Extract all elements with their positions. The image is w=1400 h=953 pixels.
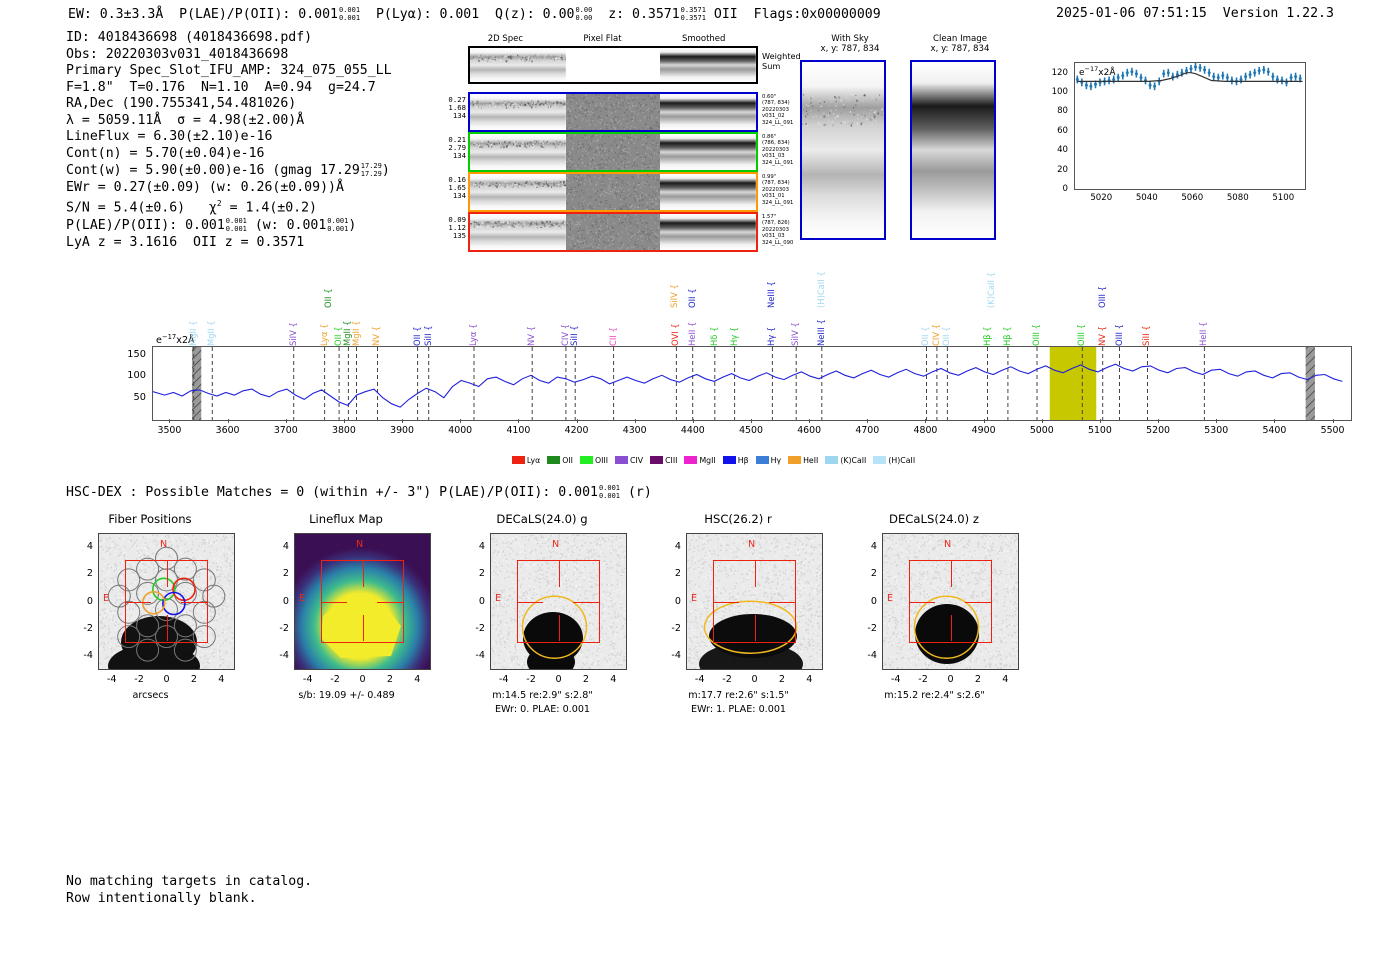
zoom-ytick-0: 0 <box>1038 184 1068 194</box>
image-panel-0-ytick-2: 2 <box>60 568 93 579</box>
image-panel-0-xtick--2: -2 <box>134 674 144 685</box>
image-panel-1-ytick-2: 2 <box>256 568 289 579</box>
sup-sub-pair: 0.35710.3571 <box>681 6 706 22</box>
image-panel-title-0: Fiber Positions <box>60 512 240 526</box>
image-panel-2-ytick-0: 0 <box>452 596 485 607</box>
east-marker-1: E <box>299 593 305 604</box>
image-panel-4-ytick-0: 0 <box>844 596 877 607</box>
spectrum-line-label-SiII-38: SiII { <box>1141 302 1151 346</box>
zoom-xtick-5020: 5020 <box>1090 193 1112 203</box>
image-panel-3-ytick--2: -2 <box>648 623 681 634</box>
image-panel-title-3: HSC(26.2) r <box>648 512 828 526</box>
spectrum-line-label-Lyα-3: Lyα { <box>319 302 329 346</box>
spectrum-xtickmark-4500 <box>751 419 752 423</box>
cutout-row <box>468 132 758 172</box>
image-panel-0-ytick-4: 4 <box>60 541 93 552</box>
crosshair-horizontal-left-4 <box>909 602 935 603</box>
spectrum-xtick-3800: 3800 <box>332 425 356 436</box>
spectrum-ytick-150: 150 <box>120 349 146 360</box>
info-line-6: LineFlux = 6.30(±2.10)e-16 <box>66 129 392 146</box>
spectrum-line-label-CII-15: CII { <box>608 302 618 346</box>
zoom-plot-axes: e−17x2Å <box>1074 62 1306 190</box>
cutout-seg-flat <box>566 214 660 250</box>
header-part-4-after: OII <box>706 7 738 22</box>
image-panel-2-caption2: EWr: 0. PLAE: 0.001 <box>440 704 645 715</box>
sky-panel-coords-0: x, y: 787, 834 <box>800 44 900 54</box>
spectrum-xtick-4900: 4900 <box>972 425 996 436</box>
image-panel-3-ytick--4: -4 <box>648 650 681 661</box>
spectrum-line-label-NeIII-23: NeIII { <box>766 264 776 308</box>
cutout-column-title-2: Smoothed <box>682 34 725 44</box>
image-panel-2-ytick--4: -4 <box>452 650 485 661</box>
spectrum-xtickmark-4400 <box>693 419 694 423</box>
masked-band-1 <box>1306 347 1315 420</box>
spectrum-line-label-CIV-28: CIV { <box>931 302 941 346</box>
cutout-seg-smooth <box>660 48 756 82</box>
spectrum-line-label-MgII-1: MgII { <box>206 302 216 346</box>
zoom-ytick-120: 120 <box>1038 68 1068 78</box>
spectrum-xtick-4300: 4300 <box>623 425 647 436</box>
spectrum-line-label-SiII-14: SiII { <box>569 302 579 346</box>
cutout-left-label-2: 134 <box>440 192 466 200</box>
image-panel-3-xtick--2: -2 <box>722 674 732 685</box>
info-line-snr: S/N = 5.4(±0.6) χ2 = 1.4(±0.2) <box>66 196 392 217</box>
cutout-row <box>468 212 758 252</box>
spectrum-line-label-SiIV-2: SiIV { <box>288 302 298 346</box>
spectrum-xtickmark-5000 <box>1042 419 1043 423</box>
zoom-ytick-80: 80 <box>1038 106 1068 116</box>
spectrum-xtick-3500: 3500 <box>158 425 182 436</box>
spectrum-xtick-4100: 4100 <box>506 425 530 436</box>
crosshair-vertical-top-4 <box>951 561 952 587</box>
image-panel-4-ytick-2: 2 <box>844 568 877 579</box>
spectrum-line-label-Hδ-20: Hδ { <box>709 302 719 346</box>
info-line-5: λ = 5059.11Å σ = 4.98(±2.00)Å <box>66 113 392 130</box>
spectrum-xtick-4500: 4500 <box>739 425 763 436</box>
sup-sub-pair: 0.0010.001 <box>226 217 247 233</box>
spectrum-line-label-MgII-7: MgII { <box>351 302 361 346</box>
spectrum-xtick-4200: 4200 <box>565 425 589 436</box>
image-panel-1-xtick--4: -4 <box>303 674 313 685</box>
crosshair-vertical-top-0 <box>167 561 168 587</box>
cutout-left-label-2: 134 <box>440 112 466 120</box>
crosshair-horizontal-left-3 <box>713 602 739 603</box>
crosshair-vertical-bottom-0 <box>167 615 168 641</box>
legend-label-OII: OII <box>562 456 573 465</box>
spectrum-line-label-OIII-34: OIII { <box>1076 302 1086 346</box>
header-part-3: Q(z): 0.00 <box>495 7 574 22</box>
image-panel-0-xtick-0: 0 <box>163 674 169 685</box>
image-panel-2-xtick-2: 2 <box>583 674 589 685</box>
north-marker-0: N <box>160 539 167 550</box>
crosshair-horizontal-left-0 <box>125 602 151 603</box>
spectrum-xtickmark-4000 <box>460 419 461 423</box>
spectrum-xtickmark-3800 <box>344 419 345 423</box>
legend-swatch-Lyα <box>512 456 525 464</box>
zoom-plot-data <box>1075 63 1305 189</box>
bottom-note: No matching targets in catalog. Row inte… <box>66 874 312 907</box>
imaging-panel-group: Fiber PositionsNE-4-4-2-2002244arcsecsLi… <box>60 512 1060 722</box>
cutout-seg-smooth <box>660 134 756 170</box>
cutout-row <box>468 172 758 212</box>
spectrum-xtick-5500: 5500 <box>1321 425 1345 436</box>
legend-swatch-Hβ <box>723 456 736 464</box>
spectrum-xtickmark-5200 <box>1158 419 1159 423</box>
east-marker-3: E <box>691 593 697 604</box>
image-panel-2-ytick-4: 4 <box>452 541 485 552</box>
cutout-seg-flat <box>566 174 660 210</box>
image-panel-2-ytick-2: 2 <box>452 568 485 579</box>
image-panel-title-4: DECaLS(24.0) z <box>844 512 1024 526</box>
spectrum-line-label-SiIV-17: SiIV { <box>669 264 679 308</box>
spectrum-line-label-NV-35: NV { <box>1097 302 1107 346</box>
sky-panel-title-0: With Skyx, y: 787, 834 <box>800 34 900 55</box>
image-panel-2-ytick--2: -2 <box>452 623 485 634</box>
info-line-0: ID: 4018436698 (4018436698.pdf) <box>66 30 392 47</box>
spectrum-line-label-Hβ-32: Hβ { <box>1002 302 1012 346</box>
image-panel-0-xtick-2: 2 <box>191 674 197 685</box>
spectrum-line-label-HeII-39: HeII { <box>1198 302 1208 346</box>
cutout-seg-blank <box>566 48 660 82</box>
image-panel-1-ytick-0: 0 <box>256 596 289 607</box>
image-panel-4-ytick--4: -4 <box>844 650 877 661</box>
image-panel-0-xlabel: arcsecs <box>48 690 253 701</box>
timestamp: 2025-01-06 07:51:15 <box>1056 6 1207 21</box>
crosshair-vertical-top-2 <box>559 561 560 587</box>
image-panel-4-caption1: m:15.2 re:2.4" s:2.6" <box>832 690 1037 701</box>
zoom-xtick-5100: 5100 <box>1272 193 1294 203</box>
cutout-left-label-2: 135 <box>440 232 466 240</box>
main-spectrum-chart: LyαOIIOIIICIVCIIIMgIIHβHγHeII(K)CaII(H)C… <box>60 268 1360 478</box>
spectrum-line-label-SiII-10: SiII { <box>423 302 433 346</box>
cutout-seg-spec <box>470 134 566 170</box>
spectrum-line-label-SiIV-24: SiIV { <box>790 302 800 346</box>
spectrum-line-label-OII-19: OII { <box>687 264 697 308</box>
cutout-seg-spec <box>470 48 566 82</box>
north-marker-3: N <box>748 539 755 550</box>
crosshair-vertical-bottom-2 <box>559 615 560 641</box>
crosshair-vertical-bottom-4 <box>951 615 952 641</box>
spectrum-xtick-4400: 4400 <box>681 425 705 436</box>
legend-label-OIII: OIII <box>595 456 608 465</box>
spectrum-xtick-4000: 4000 <box>448 425 472 436</box>
image-panel-3-ytick-4: 4 <box>648 541 681 552</box>
spectrum-xtickmark-4900 <box>984 419 985 423</box>
spectrum-xtickmark-5400 <box>1274 419 1275 423</box>
legend-label-Hβ: Hβ <box>738 456 749 465</box>
spectrum-line-label-OIII-37: OIII { <box>1114 302 1124 346</box>
info-line-1: Obs: 20220303v031_4018436698 <box>66 47 392 64</box>
crosshair-horizontal-right-3 <box>769 602 795 603</box>
crosshair-horizontal-right-1 <box>377 602 403 603</box>
info-line-4: RA,Dec (190.755341,54.481026) <box>66 96 392 113</box>
crosshair-vertical-bottom-1 <box>363 615 364 641</box>
sky-panel-name-0: With Sky <box>800 34 900 44</box>
zoom-flux-unit-label: e−17x2Å <box>1079 65 1115 78</box>
main-spectrum-trace <box>153 347 1351 420</box>
image-panel-1-ytick--4: -4 <box>256 650 289 661</box>
legend-swatch-Hγ <box>756 456 769 464</box>
image-panel-0-ytick-0: 0 <box>60 596 93 607</box>
image-panel-3-caption1: m:17.7 re:2.6" s:1.5" <box>636 690 841 701</box>
legend-swatch-(K)CaII <box>825 456 838 464</box>
north-marker-2: N <box>552 539 559 550</box>
image-panel-title-1: Lineflux Map <box>256 512 436 526</box>
image-panel-4-xtick-2: 2 <box>975 674 981 685</box>
image-panel-3-ytick-0: 0 <box>648 596 681 607</box>
image-panel-4-ytick-4: 4 <box>844 541 877 552</box>
spectrum-xtick-3900: 3900 <box>390 425 414 436</box>
zoom-ytick-100: 100 <box>1038 87 1068 97</box>
image-panel-0-xtick-4: 4 <box>218 674 224 685</box>
image-panel-4-ytick--2: -2 <box>844 623 877 634</box>
target-info-block: ID: 4018436698 (4018436698.pdf)Obs: 2022… <box>66 30 392 252</box>
spectrum-xtick-5300: 5300 <box>1204 425 1228 436</box>
spectrum-line-label-NeIII-25: NeIII { <box>816 302 826 346</box>
spectrum-xtick-4800: 4800 <box>914 425 938 436</box>
cutout-panel-group: 2D SpecPixel FlatSmoothedWeightedSum0.27… <box>440 34 790 249</box>
image-panel-1-ytick--2: -2 <box>256 623 289 634</box>
cutout-left-labels: 0.271.68134 <box>440 96 466 120</box>
image-panel-3-ytick-2: 2 <box>648 568 681 579</box>
image-panel-3-xtick-2: 2 <box>779 674 785 685</box>
hsc-dex-match-line: HSC-DEX : Possible Matches = 0 (within +… <box>66 484 652 500</box>
header-part-1: P(LAE)/P(OII): 0.001 <box>179 7 338 22</box>
cutout-seg-flat <box>566 134 660 170</box>
sup-sub-pair: 0.000.00 <box>575 6 592 22</box>
north-marker-1: N <box>356 539 363 550</box>
image-panel-4-xtick-0: 0 <box>947 674 953 685</box>
spectrum-xtickmark-3500 <box>169 419 170 423</box>
east-marker-0: E <box>103 593 109 604</box>
spectrum-line-label-(H)CaII-26: (H)CaII { <box>816 264 826 308</box>
info-line-plae: P(LAE)/P(OII): 0.0010.0010.001 (w: 0.001… <box>66 217 392 235</box>
spectrum-xtickmark-3600 <box>228 419 229 423</box>
spectrum-xtick-3600: 3600 <box>216 425 240 436</box>
legend-swatch-OIII <box>580 456 593 464</box>
spectrum-line-label-OII-29: OII { <box>941 302 951 346</box>
sky-panel-name-1: Clean Image <box>910 34 1010 44</box>
crosshair-vertical-top-1 <box>363 561 364 587</box>
legend-label-(K)CaII: (K)CaII <box>840 456 866 465</box>
legend-swatch-CIV <box>615 456 628 464</box>
crosshair-horizontal-left-2 <box>517 602 543 603</box>
spectrum-xtick-4600: 4600 <box>797 425 821 436</box>
image-panel-2-xtick-0: 0 <box>555 674 561 685</box>
cutout-seg-smooth <box>660 174 756 210</box>
spectrum-xtick-5100: 5100 <box>1088 425 1112 436</box>
spectrum-ytick-100: 100 <box>120 370 146 381</box>
spectrum-line-label-(K)CaII-31: (K)CaII { <box>986 264 996 308</box>
cutout-seg-smooth <box>660 214 756 250</box>
legend-label-HeII: HeII <box>803 456 818 465</box>
weighted-sum-label: WeightedSum <box>762 52 801 71</box>
legend-label-CIII: CIII <box>665 456 677 465</box>
spectrum-line-label-OII-27: OII { <box>920 302 930 346</box>
cutout-left-label-2: 134 <box>440 152 466 160</box>
zoom-xtick-5060: 5060 <box>1181 193 1203 203</box>
sup-sub-pair: 0.0010.001 <box>339 6 360 22</box>
zoom-ytick-60: 60 <box>1038 126 1068 136</box>
spectrum-line-label-MgII-0: MgII { <box>188 302 198 346</box>
image-panel-0-ytick--4: -4 <box>60 650 93 661</box>
header-part-2: P(Lyα): 0.001 <box>376 7 479 22</box>
image-panel-1-xtick-4: 4 <box>414 674 420 685</box>
sky-panel-title-1: Clean Imagex, y: 787, 834 <box>910 34 1010 55</box>
image-panel-4-xtick-4: 4 <box>1002 674 1008 685</box>
cutout-row <box>468 46 758 84</box>
spectrum-line-label-Hγ-22: Hγ { <box>766 302 776 346</box>
image-panel-2-caption1: m:14.5 re:2.9" s:2.8" <box>440 690 645 701</box>
legend-swatch-CIII <box>650 456 663 464</box>
info-line-3: F=1.8" T=0.176 N=1.10 A=0.94 g=24.7 <box>66 80 392 97</box>
header-summary-line: EW: 0.3±3.3Å P(LAE)/P(OII): 0.0010.0010.… <box>68 6 897 22</box>
info-line-cont-w: Cont(w) = 5.90(±0.00)e-16 (gmag 17.2917.… <box>66 162 392 180</box>
spectrum-xtickmark-3700 <box>286 419 287 423</box>
spectrum-line-label-OIII-33: OIII { <box>1031 302 1041 346</box>
sky-panel-coords-1: x, y: 787, 834 <box>910 44 1010 54</box>
cutout-left-labels: 0.212.79134 <box>440 136 466 160</box>
spectrum-xtick-4700: 4700 <box>855 425 879 436</box>
spectrum-xtickmark-4200 <box>577 419 578 423</box>
info-line-redshifts: LyA z = 3.1616 OII z = 0.3571 <box>66 235 392 252</box>
image-panel-1-xtick-2: 2 <box>387 674 393 685</box>
image-panel-0-ytick--2: -2 <box>60 623 93 634</box>
cutout-row <box>468 92 758 132</box>
spectrum-xtickmark-4300 <box>635 419 636 423</box>
image-panel-3-xtick-4: 4 <box>806 674 812 685</box>
cutout-seg-smooth <box>660 94 756 130</box>
spectrum-xtick-3700: 3700 <box>274 425 298 436</box>
weighted-sum-line-1: Sum <box>762 62 801 72</box>
cutout-column-title-1: Pixel Flat <box>583 34 621 44</box>
zoom-ytick-20: 20 <box>1038 165 1068 175</box>
spectrum-xtick-5000: 5000 <box>1030 425 1054 436</box>
image-panel-4-xtick--2: -2 <box>918 674 928 685</box>
spectrum-xtickmark-4100 <box>518 419 519 423</box>
cutout-seg-flat <box>566 94 660 130</box>
image-panel-2-xtick-4: 4 <box>610 674 616 685</box>
legend-label-(H)CaII: (H)CaII <box>888 456 915 465</box>
east-marker-2: E <box>495 593 501 604</box>
spectrum-line-label-OVI-16: OVI { <box>670 302 680 346</box>
sky-panel-image-1 <box>910 60 996 240</box>
zoom-xtick-5080: 5080 <box>1227 193 1249 203</box>
legend-swatch-HeII <box>788 456 801 464</box>
zoom-spectrum-chart: e−17x2Å020406080100120502050405060508051… <box>1038 58 1310 218</box>
east-marker-4: E <box>887 593 893 604</box>
cutout-left-labels: 0.091.12135 <box>440 216 466 240</box>
spectrum-line-label-Hβ-30: Hβ { <box>982 302 992 346</box>
crosshair-vertical-bottom-3 <box>755 615 756 641</box>
sup-sub-pair: 0.0010.001 <box>599 484 620 500</box>
legend-label-CIV: CIV <box>630 456 643 465</box>
spectrum-xtick-5200: 5200 <box>1146 425 1170 436</box>
crosshair-horizontal-right-2 <box>573 602 599 603</box>
legend-swatch-MgII <box>684 456 697 464</box>
north-marker-4: N <box>944 539 951 550</box>
image-panel-4-xtick--4: -4 <box>891 674 901 685</box>
sup-sub-pair: 0.0010.001 <box>327 217 348 233</box>
cutout-left-labels: 0.161.65134 <box>440 176 466 200</box>
spectrum-ytick-50: 50 <box>120 392 146 403</box>
header-part-4: z: 0.3571 <box>608 7 679 22</box>
image-panel-1-caption1: s/b: 19.09 +/- 0.489 <box>244 690 449 701</box>
spectrum-line-label-Hγ-21: Hγ { <box>729 302 739 346</box>
info-line-ewr: EWr = 0.27(±0.09) (w: 0.26(±0.09))Å <box>66 180 392 197</box>
crosshair-horizontal-right-0 <box>181 602 207 603</box>
cutout-column-title-0: 2D Spec <box>488 34 523 44</box>
header-part-5: Flags:0x00000009 <box>754 7 881 22</box>
info-line-2: Primary Spec_Slot_IFU_AMP: 324_075_055_L… <box>66 63 392 80</box>
spectrum-xtickmark-4800 <box>925 419 926 423</box>
image-panel-1-xtick-0: 0 <box>359 674 365 685</box>
version-label: Version 1.22.3 <box>1223 6 1334 21</box>
cutout-seg-spec <box>470 214 566 250</box>
image-panel-3-xtick-0: 0 <box>751 674 757 685</box>
info-line-7: Cont(n) = 5.70(±0.04)e-16 <box>66 146 392 163</box>
image-panel-2-xtick--4: -4 <box>499 674 509 685</box>
spectrum-xtick-5400: 5400 <box>1262 425 1286 436</box>
spectrum-line-label-OII-9: OII { <box>412 302 422 346</box>
zoom-xtick-5040: 5040 <box>1136 193 1158 203</box>
spectrum-xtickmark-4600 <box>809 419 810 423</box>
image-panel-title-2: DECaLS(24.0) g <box>452 512 632 526</box>
zoom-ytick-40: 40 <box>1038 145 1068 155</box>
spectrum-line-label-Lyα-11: Lyα { <box>468 302 478 346</box>
chi-square-exponent: 2 <box>217 199 222 208</box>
legend-label-Hγ: Hγ <box>771 456 781 465</box>
sup-sub-pair: 17.2917.29 <box>361 162 382 178</box>
image-panel-1-ytick-4: 4 <box>256 541 289 552</box>
main-spectrum-plot-area <box>152 346 1352 421</box>
spectrum-xtickmark-5100 <box>1100 419 1101 423</box>
image-panel-3-xtick--4: -4 <box>695 674 705 685</box>
image-panel-1-xtick--2: -2 <box>330 674 340 685</box>
header-part-0: EW: 0.3±3.3Å <box>68 7 163 22</box>
cutout-seg-spec <box>470 94 566 130</box>
legend-swatch-(H)CaII <box>873 456 886 464</box>
spectrum-legend: LyαOIIOIIICIVCIIIMgIIHβHγHeII(K)CaII(H)C… <box>60 456 1360 465</box>
spectrum-xtickmark-3900 <box>402 419 403 423</box>
spectrum-line-label-OII-4: OII { <box>323 264 333 308</box>
legend-swatch-OII <box>547 456 560 464</box>
header-timestamp-version: 2025-01-06 07:51:15 Version 1.22.3 <box>1056 6 1334 21</box>
spectrum-xtickmark-5300 <box>1216 419 1217 423</box>
crosshair-vertical-top-3 <box>755 561 756 587</box>
spectrum-line-label-NV-8: NV { <box>371 302 381 346</box>
image-panel-3-caption2: EWr: 1. PLAE: 0.001 <box>636 704 841 715</box>
sky-image-panel-group: With Skyx, y: 787, 834Clean Imagex, y: 7… <box>800 34 1015 249</box>
image-panel-2-xtick--2: -2 <box>526 674 536 685</box>
sky-panel-image-0 <box>800 60 886 240</box>
image-panel-0-xtick--4: -4 <box>107 674 117 685</box>
crosshair-horizontal-left-1 <box>321 602 347 603</box>
legend-label-MgII: MgII <box>699 456 715 465</box>
spectrum-line-label-OIII-36: OIII { <box>1097 264 1107 308</box>
spectrum-xtickmark-5500 <box>1333 419 1334 423</box>
legend-label-Lyα: Lyα <box>527 456 540 465</box>
crosshair-horizontal-right-4 <box>965 602 991 603</box>
cutout-seg-spec <box>470 174 566 210</box>
spectrum-line-label-NV-12: NV { <box>526 302 536 346</box>
spectrum-line-label-HeII-18: HeII { <box>687 302 697 346</box>
spectrum-xtickmark-4700 <box>867 419 868 423</box>
